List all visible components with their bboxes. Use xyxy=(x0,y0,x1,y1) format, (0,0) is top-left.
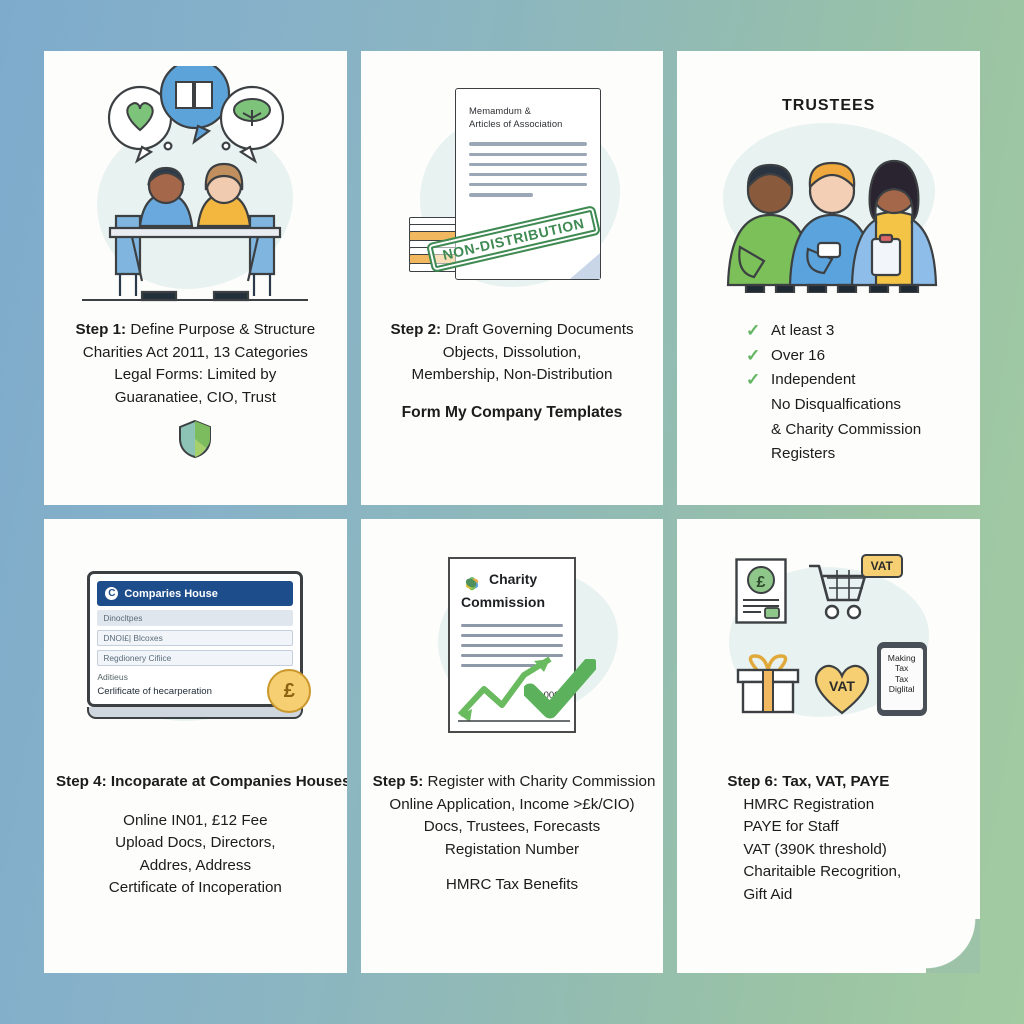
list-item: ✓Registers xyxy=(746,442,921,467)
step-2-line-2: Membership, Non-Distribution xyxy=(373,364,652,387)
tax-icon-cluster: £ VAT xyxy=(729,550,929,740)
step-label-4: Step 4: xyxy=(56,773,107,790)
step-heading-1: Define Purpose & Structure xyxy=(126,321,315,338)
step-label-2: Step 2: xyxy=(390,321,441,338)
step-heading-4: Incoparate at Companies Houses xyxy=(107,773,347,790)
laptop-base xyxy=(87,707,303,719)
step-1-line-2: Legal Forms: Limited by xyxy=(56,364,335,387)
checklist-text-4: No Disqualfications xyxy=(771,393,901,416)
step-5-footer: HMRC Tax Benefits xyxy=(373,874,652,897)
gift-box-icon xyxy=(735,654,801,719)
infographic-grid: Step 1: Define Purpose & Structure Chari… xyxy=(44,51,980,973)
companies-house-title: Comparies House xyxy=(124,588,218,600)
text-block-step-4: Step 4: Incoparate at Companies Houses O… xyxy=(44,771,347,900)
check-icon: ✓ xyxy=(746,344,762,369)
step-5-line-2: Docs, Trustees, Forecasts xyxy=(373,816,652,839)
card-step-3[interactable]: TRUSTEES xyxy=(677,51,980,505)
step-2-footer: Form My Company Templates xyxy=(373,401,652,424)
step-label-5: Step 5: xyxy=(373,773,424,790)
check-icon: ✓ xyxy=(746,368,762,393)
tablet-making-tax-digital-icon: Making Tax Tax Diglital xyxy=(877,642,927,716)
checklist-text-2: Over 16 xyxy=(771,344,825,367)
illustration-step-6: £ VAT xyxy=(677,519,980,771)
step-heading-5: Register with Charity Commission xyxy=(423,773,655,790)
checklist-text-6: Registers xyxy=(771,442,835,465)
tablet-line-4: Diglital xyxy=(881,684,923,694)
cc-title-line-2: Commission xyxy=(461,595,563,610)
doc-title-line-1: Memamdum & xyxy=(469,105,587,118)
people-meeting-illustration xyxy=(80,66,310,304)
green-check-icon xyxy=(524,659,596,721)
tablet-line-1: Making xyxy=(881,653,923,663)
check-icon-placeholder: ✓ xyxy=(746,418,762,443)
step-5-line-1: Online Application, Income >£k/CIO) xyxy=(373,794,652,817)
shield-icon xyxy=(178,419,212,464)
vat-heart-icon: VAT xyxy=(809,658,875,721)
form-field-2[interactable]: DNOI£| Blcoxes xyxy=(97,630,293,646)
checklist-text-5: & Charity Commission xyxy=(771,418,921,441)
card-step-4[interactable]: C Comparies House Dinocltpes DNOI£| Blco… xyxy=(44,519,347,973)
pound-coin-icon: £ xyxy=(267,669,311,713)
vat-badge-cart: VAT xyxy=(861,554,903,578)
decorative-corner xyxy=(926,919,980,973)
step-4-line-3: Addres, Address xyxy=(56,855,335,878)
step-2-line-1: Objects, Dissolution, xyxy=(373,342,652,365)
step-4-line-4: Certificate of Incoperation xyxy=(56,877,335,900)
card-step-5[interactable]: Charity Commission £5,000+ xyxy=(361,519,664,973)
text-block-step-2: Step 2: Draft Governing Documents Object… xyxy=(361,319,664,424)
doc-title-line-2: Articles of Association xyxy=(469,118,587,131)
svg-text:£: £ xyxy=(756,574,765,591)
list-item: ✓At least 3 xyxy=(746,319,921,344)
step-heading-2: Draft Governing Documents xyxy=(441,321,633,338)
illustration-step-1 xyxy=(44,51,347,319)
step-6-line-2: PAYE for Staff xyxy=(743,816,968,839)
list-item: ✓& Charity Commission xyxy=(746,418,921,443)
step-6-line-1: HMRC Registration xyxy=(743,794,968,817)
step-6-line-4: Charitaible Recogrition, xyxy=(743,861,968,884)
step-6-line-5: Gift Aid xyxy=(743,884,968,907)
form-field-4: Aditieus xyxy=(97,672,293,682)
checklist-text-3: Independent xyxy=(771,368,855,391)
illustration-step-2: Memamdum & Articles of Association NON-D… xyxy=(361,51,664,319)
check-icon-placeholder: ✓ xyxy=(746,442,762,467)
step-heading-6: Tax, VAT, PAYE xyxy=(778,773,889,790)
three-trustees-illustration xyxy=(710,117,948,293)
laptop-illustration: C Comparies House Dinocltpes DNOI£| Blco… xyxy=(87,571,303,719)
cc-title-line-1: Charity xyxy=(489,572,537,587)
form-field-1[interactable]: Dinocltpes xyxy=(97,610,293,626)
step-4-line-1: Online IN01, £12 Fee xyxy=(56,810,335,833)
illustration-step-4: C Comparies House Dinocltpes DNOI£| Blco… xyxy=(44,519,347,771)
checklist-text-1: At least 3 xyxy=(771,319,834,342)
illustration-step-5: Charity Commission £5,000+ xyxy=(361,519,664,771)
step-1-line-1: Charities Act 2011, 13 Categories xyxy=(56,342,335,365)
card-step-2[interactable]: Memamdum & Articles of Association NON-D… xyxy=(361,51,664,505)
charity-commission-document: Charity Commission £5,000+ xyxy=(448,557,576,733)
text-block-step-6: Step 6: Tax, VAT, PAYE HMRC Registration… xyxy=(677,771,980,906)
trustees-title: TRUSTEES xyxy=(782,97,875,115)
step-4-line-2: Upload Docs, Directors, xyxy=(56,832,335,855)
check-icon-placeholder: ✓ xyxy=(746,393,762,418)
step-label-1: Step 1: xyxy=(75,321,126,338)
list-item: ✓Over 16 xyxy=(746,344,921,369)
charity-commission-logo-icon xyxy=(461,572,483,594)
form-field-5: Cerlificate of hecarperation xyxy=(97,686,293,697)
list-item: ✓Independent xyxy=(746,368,921,393)
tablet-line-3: Tax xyxy=(881,674,923,684)
companies-house-logo-icon: C xyxy=(105,587,118,600)
svg-text:VAT: VAT xyxy=(829,678,855,694)
tablet-line-2: Tax xyxy=(881,663,923,673)
card-step-6[interactable]: £ VAT xyxy=(677,519,980,973)
form-field-3[interactable]: Regdionery Cifiice xyxy=(97,650,293,666)
text-block-step-1: Step 1: Define Purpose & Structure Chari… xyxy=(44,319,347,409)
step-1-line-3: Guaranatiee, CIO, Trust xyxy=(56,387,335,410)
text-block-step-5: Step 5: Register with Charity Commission… xyxy=(361,771,664,897)
card-step-1[interactable]: Step 1: Define Purpose & Structure Chari… xyxy=(44,51,347,505)
companies-house-header: C Comparies House xyxy=(97,581,293,606)
illustration-step-3: TRUSTEES xyxy=(677,51,980,319)
step-6-line-3: VAT (390K threshold) xyxy=(743,839,968,862)
list-item: ✓No Disqualfications xyxy=(746,393,921,418)
step-label-6: Step 6: xyxy=(727,773,778,790)
check-icon: ✓ xyxy=(746,319,762,344)
step-5-line-3: Registation Number xyxy=(373,839,652,862)
trustee-checklist: ✓At least 3 ✓Over 16 ✓Independent ✓No Di… xyxy=(736,319,921,467)
invoice-icon: £ xyxy=(735,558,787,629)
